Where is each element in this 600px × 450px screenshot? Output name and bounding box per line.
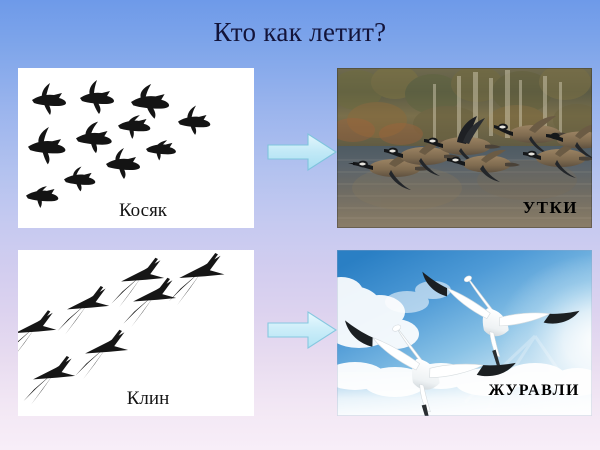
arrow-klin-to-zhuravli: [266, 309, 338, 351]
panel-klin: Клин: [18, 250, 254, 416]
photo-utki: УТКИ: [337, 68, 592, 228]
photo-zhuravli: ЖУРАВЛИ: [337, 250, 592, 416]
panel-kosyak: Косяк: [18, 68, 254, 228]
page-title: Кто как летит?: [0, 16, 600, 48]
slide-canvas: Кто как летит?: [0, 0, 600, 450]
photo-label-utki: УТКИ: [523, 198, 578, 218]
panel-label-klin: Клин: [18, 388, 254, 410]
right-arrow-icon: [266, 309, 338, 351]
right-arrow-icon: [266, 131, 338, 173]
panel-label-kosyak: Косяк: [18, 200, 254, 222]
arrow-kosyak-to-utki: [266, 131, 338, 173]
photo-label-zhuravli: ЖУРАВЛИ: [488, 382, 580, 400]
